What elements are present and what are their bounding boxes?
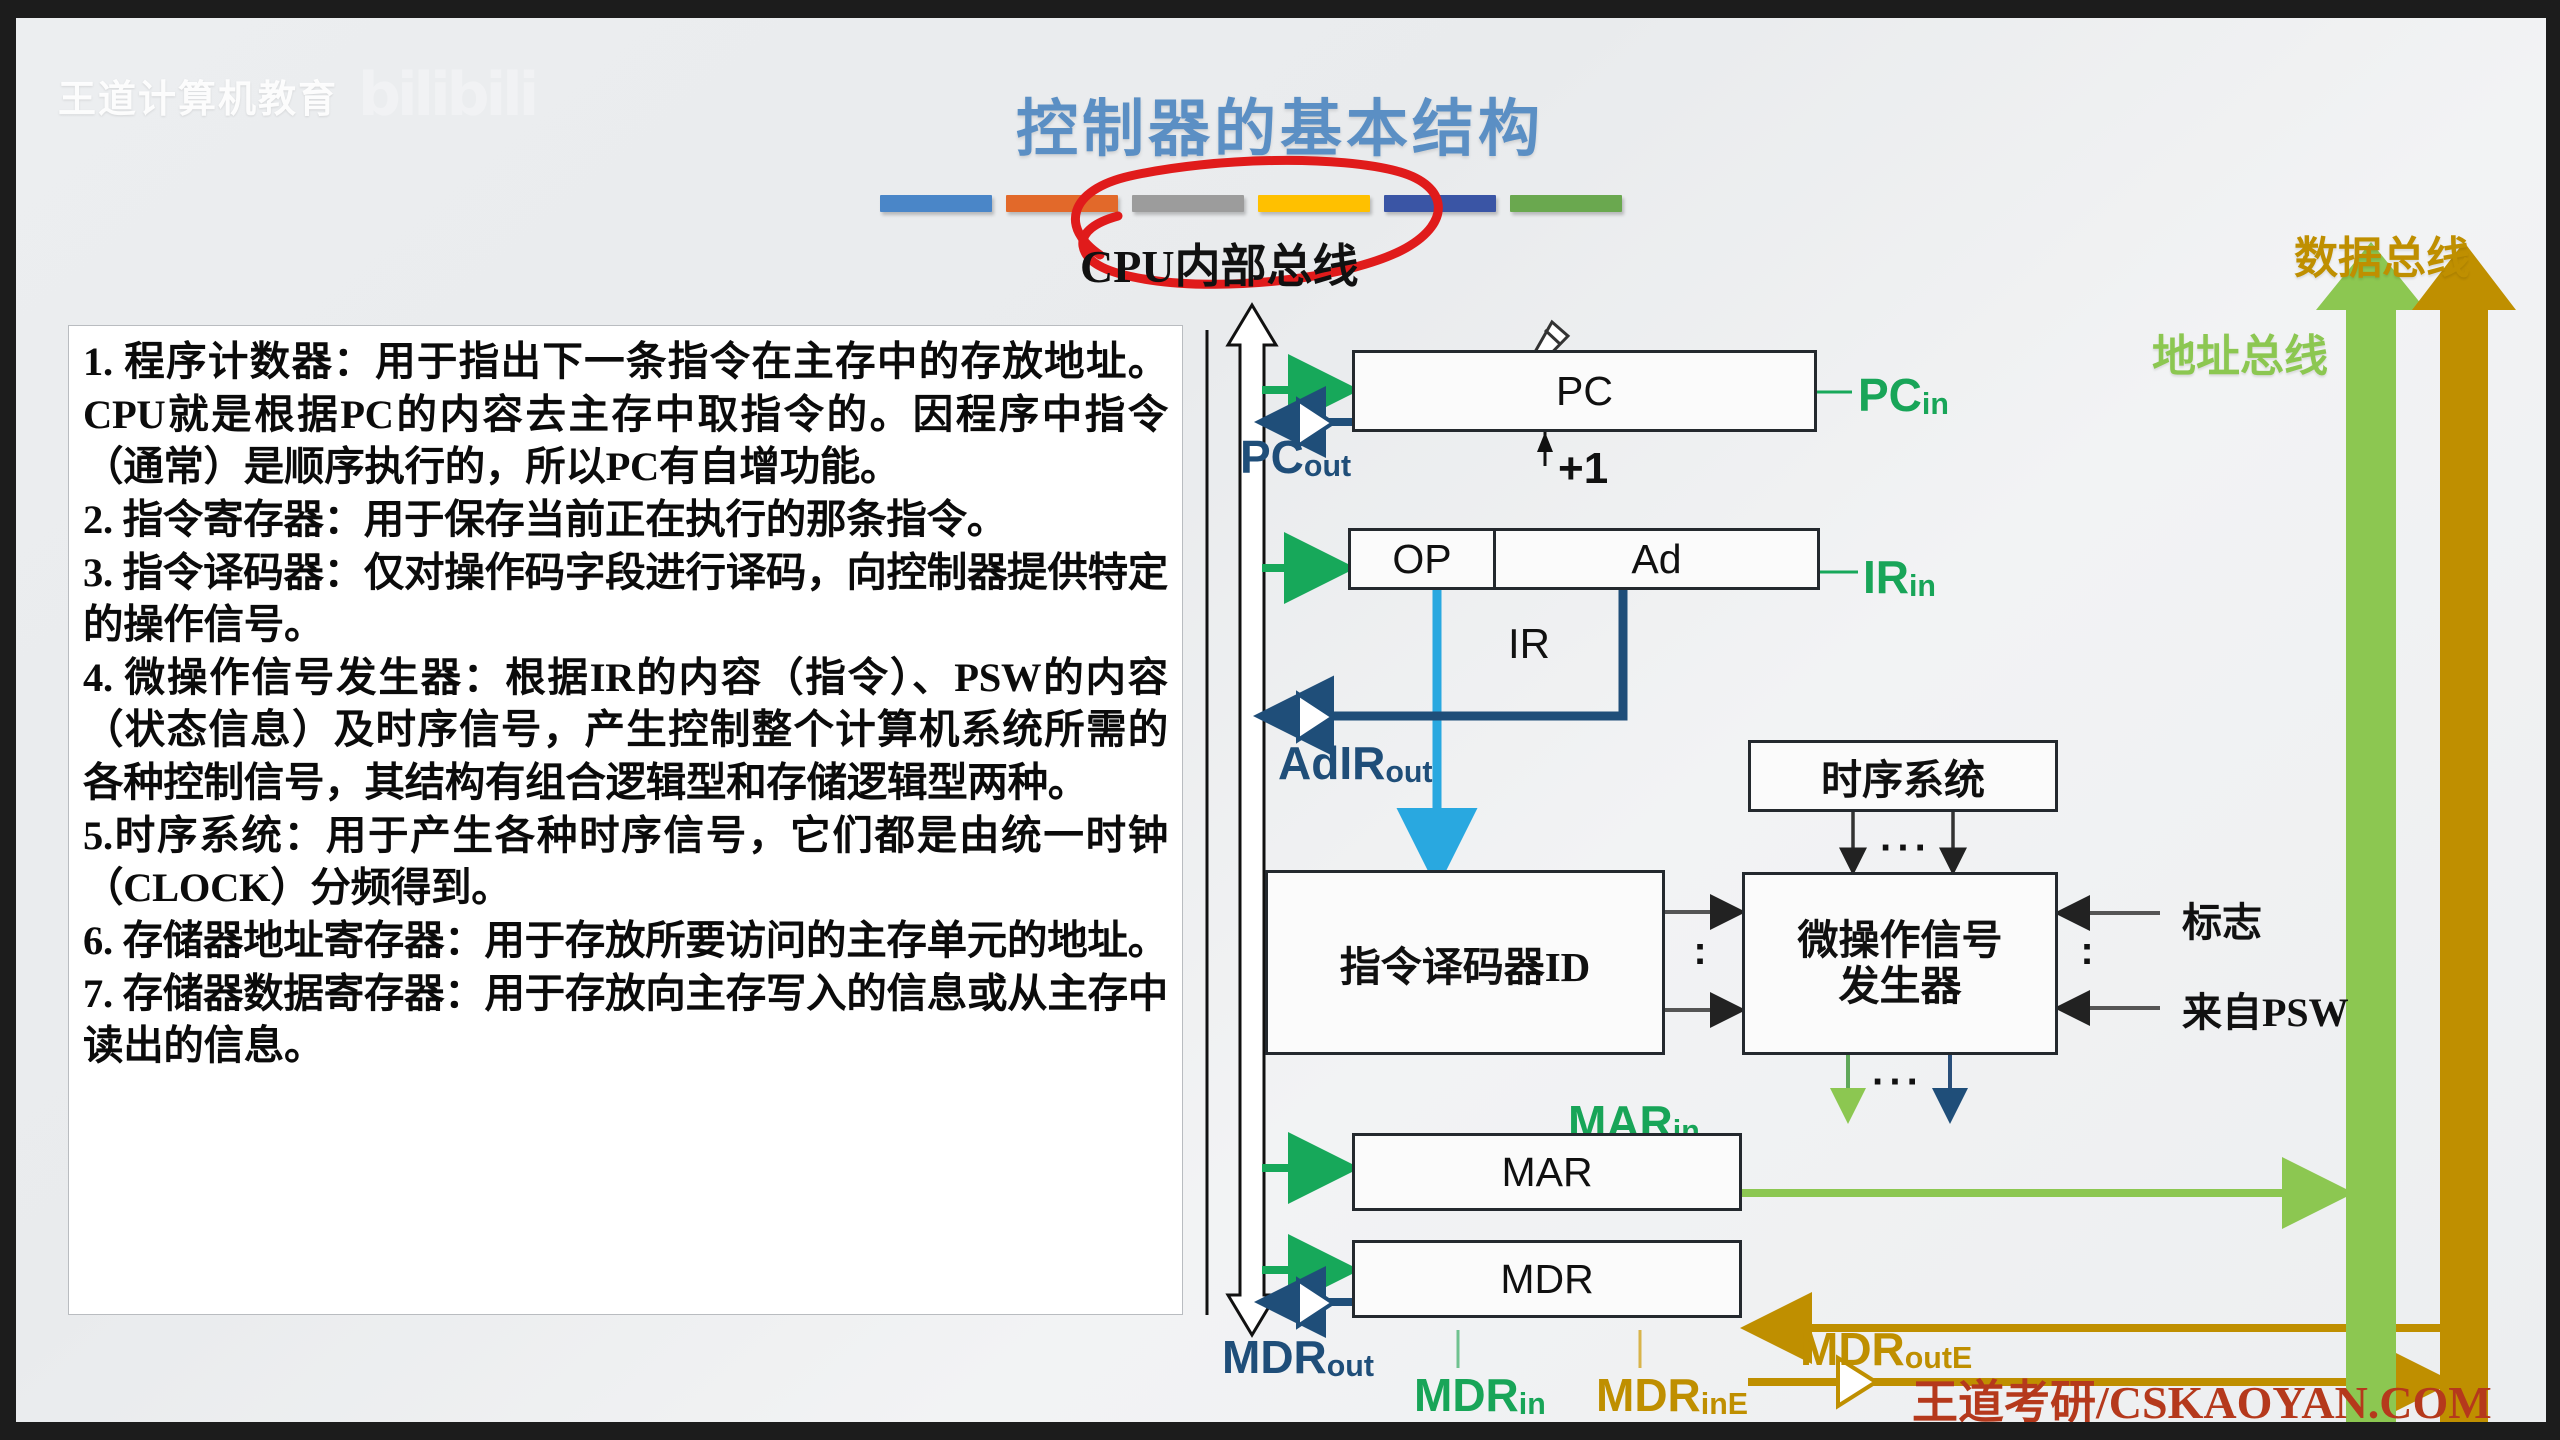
red-circle-annotation [1075, 160, 1438, 284]
letterbox-top [0, 0, 2560, 18]
slide-canvas: 王道计算机教育 bilibili 控制器的基本结构 1. 程序计数器：用于指出下… [0, 0, 2560, 1440]
data-bus-arrow [2412, 242, 2516, 1430]
letterbox-bottom [0, 1422, 2560, 1440]
mdr-connections [1262, 1270, 2446, 1406]
address-bus-arrow [2316, 242, 2426, 1430]
letterbox-right [2546, 0, 2560, 1440]
timing-to-microgen-connections [1853, 812, 1953, 872]
pc-connections [1262, 322, 1852, 466]
ir-connections [1262, 568, 1858, 880]
decoder-to-microgen-connections [1665, 912, 1742, 1010]
flag-input-connections [2058, 913, 2160, 1008]
cpu-internal-bus [1207, 305, 1276, 1335]
mar-connections [1262, 1133, 2346, 1193]
microgen-output-connections [1848, 1055, 1950, 1120]
letterbox-left [0, 0, 16, 1440]
controller-architecture-diagram [0, 0, 2560, 1440]
pencil-icon [1525, 322, 1568, 376]
